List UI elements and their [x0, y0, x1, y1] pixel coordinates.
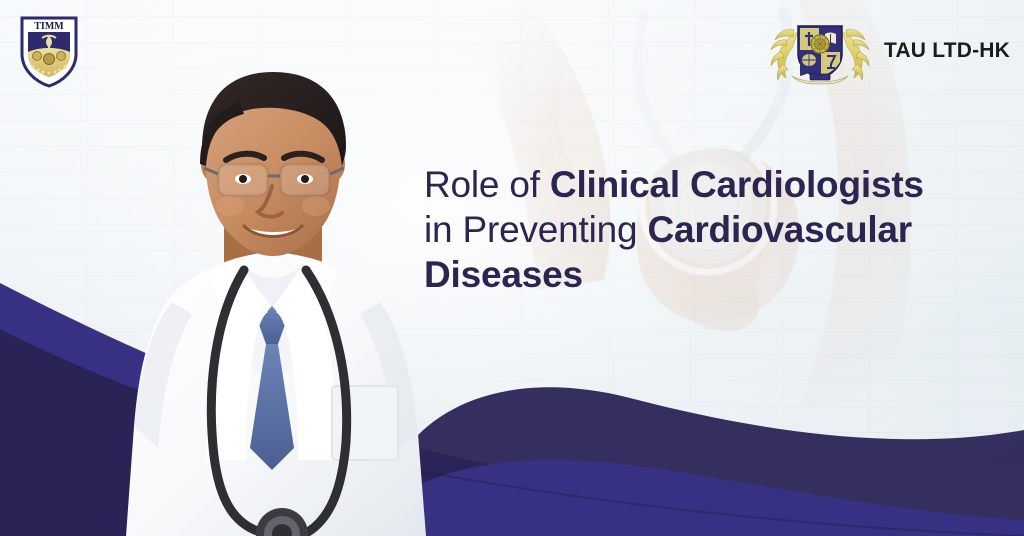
headline-segment: Clinical Cardiologists — [550, 164, 924, 205]
headline-segment: Cardiovascular — [647, 209, 912, 250]
headline-line-3: Diseases — [424, 252, 1016, 297]
timm-crest-logo[interactable]: TIMM — [16, 12, 82, 88]
page-title: Role of Clinical Cardiologists in Preven… — [424, 162, 1016, 297]
headline-line-1: Role of Clinical Cardiologists — [424, 162, 1016, 207]
headline-segment: in Preventing — [424, 209, 647, 250]
hero-banner: Role of Clinical Cardiologists in Preven… — [0, 0, 1024, 536]
smiling-male-doctor-photo — [96, 56, 456, 536]
headline-line-2: in Preventing Cardiovascular — [424, 207, 1016, 252]
laurel-wreath-right — [842, 29, 869, 80]
headline-segment: Diseases — [424, 254, 583, 295]
brand-lockup[interactable]: TAU LTD-HK — [770, 14, 1010, 88]
laurel-wreath-left — [771, 29, 798, 80]
brand-name-label: TAU LTD-HK — [884, 39, 1010, 63]
headline-segment: Role of — [424, 164, 550, 205]
timm-label: TIMM — [34, 21, 64, 32]
tau-crest-logo[interactable] — [770, 14, 870, 88]
